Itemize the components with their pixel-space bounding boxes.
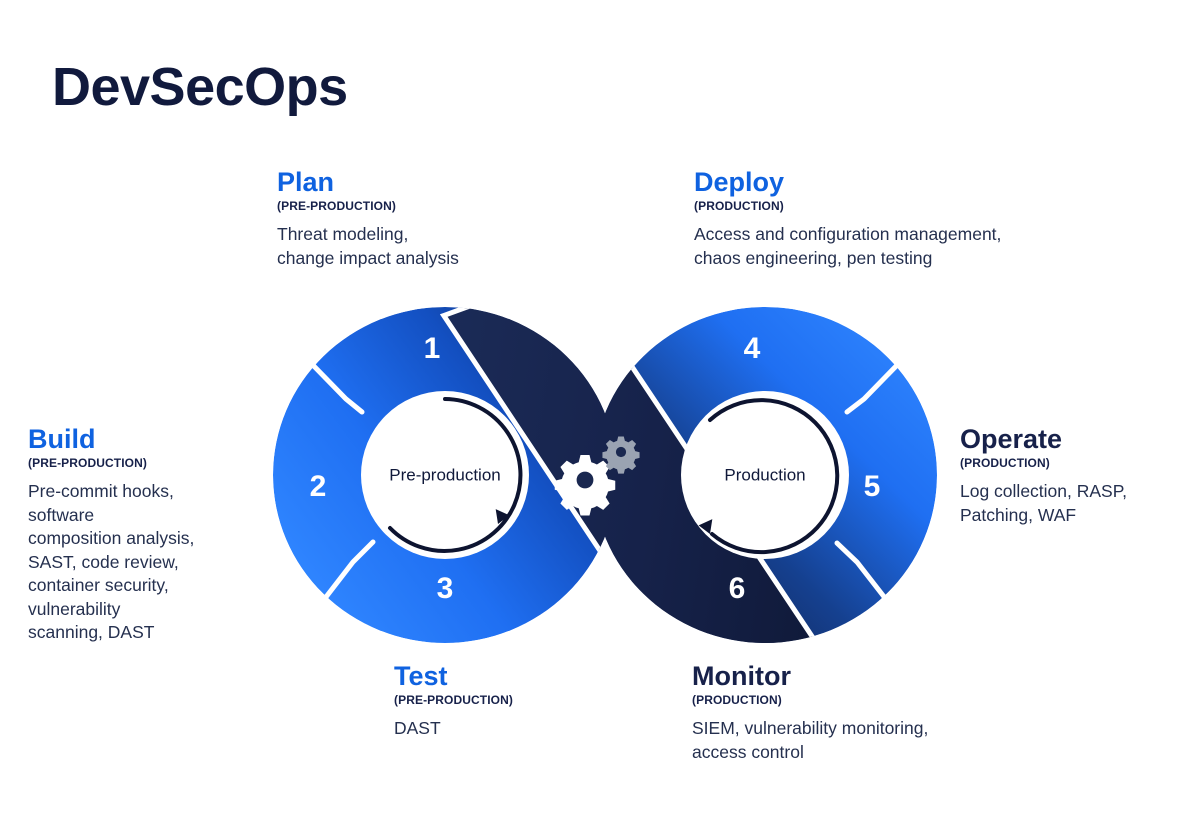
stage-environment-plan: (PRE-PRODUCTION) (277, 199, 459, 213)
stage-description-build: Pre-commit hooks, software composition a… (28, 480, 278, 644)
hub-left-label: Pre-production (389, 465, 501, 484)
stage-heading-build: Build (28, 425, 278, 453)
stage-heading-plan: Plan (277, 168, 459, 196)
page-title: DevSecOps (52, 60, 348, 114)
stage-heading-test: Test (394, 662, 513, 690)
stage-heading-operate: Operate (960, 425, 1195, 453)
stage-description-operate: Log collection, RASP, Patching, WAF (960, 480, 1195, 527)
hub-left: Pre-production (361, 391, 529, 559)
hub-right: Production (681, 391, 849, 559)
stage-description-plan: Threat modeling, change impact analysis (277, 223, 459, 270)
segment-number-3: 3 (437, 572, 454, 605)
stage-description-deploy: Access and configuration management, cha… (694, 223, 1001, 270)
segment-number-4: 4 (744, 332, 761, 365)
diagram-canvas: DevSecOps (0, 0, 1200, 837)
stage-block-build: Build (PRE-PRODUCTION) Pre-commit hooks,… (28, 425, 278, 644)
stage-block-test: Test (PRE-PRODUCTION) DAST (394, 662, 513, 741)
devsecops-infinity-loop: Pre-production Production 1 2 3 4 (240, 300, 970, 650)
stage-heading-monitor: Monitor (692, 662, 928, 690)
stage-description-test: DAST (394, 717, 513, 740)
segment-number-1: 1 (424, 332, 441, 365)
stage-block-operate: Operate (PRODUCTION) Log collection, RAS… (960, 425, 1195, 527)
stage-block-deploy: Deploy (PRODUCTION) Access and configura… (694, 168, 1001, 270)
hub-right-label: Production (724, 465, 805, 484)
segment-number-6: 6 (729, 572, 746, 605)
stage-environment-build: (PRE-PRODUCTION) (28, 456, 278, 470)
gear-large-icon (555, 455, 616, 516)
stage-heading-deploy: Deploy (694, 168, 1001, 196)
stage-environment-operate: (PRODUCTION) (960, 456, 1195, 470)
stage-description-monitor: SIEM, vulnerability monitoring, access c… (692, 717, 928, 764)
segment-number-5: 5 (864, 470, 881, 503)
stage-environment-monitor: (PRODUCTION) (692, 693, 928, 707)
gear-small-icon (602, 437, 639, 474)
stage-environment-test: (PRE-PRODUCTION) (394, 693, 513, 707)
stage-block-monitor: Monitor (PRODUCTION) SIEM, vulnerability… (692, 662, 928, 764)
stage-environment-deploy: (PRODUCTION) (694, 199, 1001, 213)
loop-svg: Pre-production Production 1 2 3 4 (240, 300, 970, 650)
segment-number-2: 2 (310, 470, 327, 503)
stage-block-plan: Plan (PRE-PRODUCTION) Threat modeling, c… (277, 168, 459, 270)
